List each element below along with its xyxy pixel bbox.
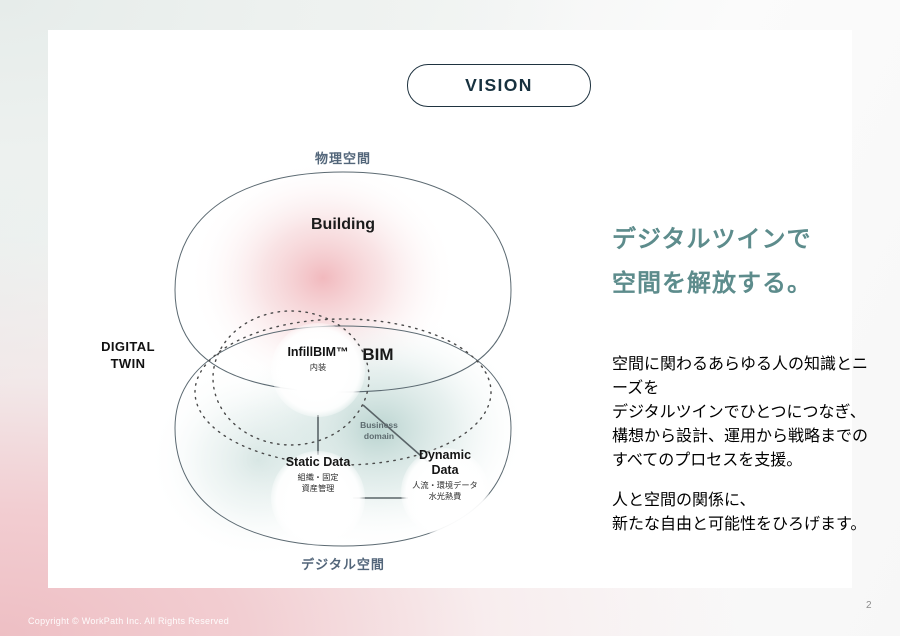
footer-copyright: Copyright © WorkPath Inc. All Rights Res… [28, 616, 229, 626]
page-background: VISION [0, 0, 900, 636]
vision-badge: VISION [407, 64, 591, 107]
headline: デジタルツインで 空間を解放する。 [612, 218, 882, 306]
vision-badge-label: VISION [465, 75, 533, 96]
headline-line1: デジタルツインで [612, 218, 882, 262]
digital-twin-diagram: 物理空間 デジタル空間 Building BIM DIGITAL TWIN Bu… [108, 130, 578, 600]
body-paragraph-1-line2: デジタルツインでひとつにつなぎ、 [612, 398, 882, 422]
content-column: デジタルツインで 空間を解放する。 空間に関わるあらゆる人の知識とニーズを デジ… [612, 218, 882, 550]
diagram-svg [108, 130, 578, 600]
body-paragraph-1-line1: 空間に関わるあらゆる人の知識とニーズを [612, 350, 882, 398]
body-paragraph-2-line1: 人と空間の関係に、 [612, 486, 882, 510]
body-paragraph-1-line3: 構想から設計、運用から戦略までの [612, 422, 882, 446]
headline-line2: 空間を解放する。 [612, 262, 882, 306]
slide-card: VISION [48, 30, 852, 588]
body-paragraph-2-line2: 新たな自由と可能性をひろげます。 [612, 510, 882, 534]
page-number: 2 [866, 600, 872, 611]
body-paragraph-1-line4: すべてのプロセスを支援。 [612, 446, 882, 470]
